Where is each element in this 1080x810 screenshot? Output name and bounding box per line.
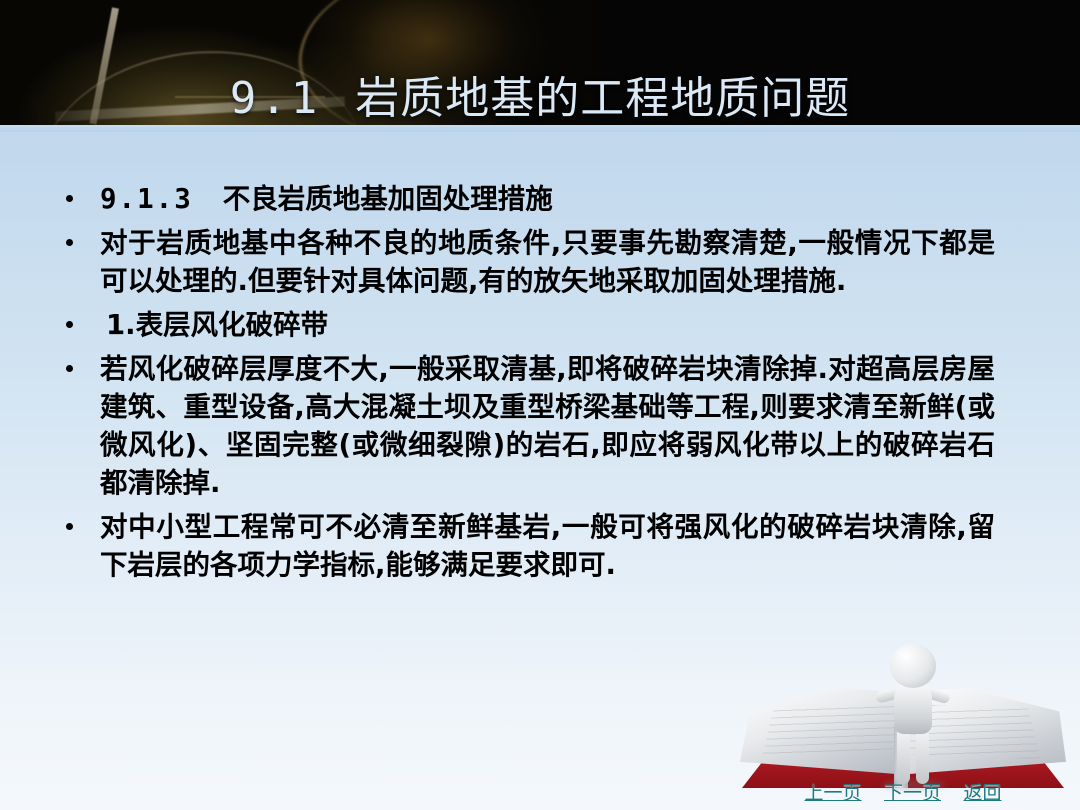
section-heading-number: 9.1.3	[100, 183, 193, 215]
section-heading: 9.1.3不良岩质地基加固处理措施	[0, 180, 1080, 218]
list-item: 1.表层风化破碎带	[0, 306, 1080, 344]
page-title-text: 岩质地基的工程地质问题	[355, 73, 850, 124]
person-right-leg-icon	[916, 728, 929, 784]
back-link[interactable]: 返回	[963, 782, 1001, 804]
page-title: 9.1岩质地基的工程地质问题	[0, 62, 1080, 126]
slide-navigation: 上一页 下一页 返回	[726, 778, 1080, 806]
page-title-number: 9.1	[230, 73, 321, 124]
slide: 9.1岩质地基的工程地质问题 9.1.3不良岩质地基加固处理措施 对于岩质地基中…	[0, 0, 1080, 810]
list-item-label: 1.表层风化破碎带	[100, 309, 328, 341]
person-torso-icon	[894, 682, 932, 734]
section-heading-text: 不良岩质地基加固处理措施	[223, 183, 553, 215]
person-left-leg-icon	[897, 728, 910, 784]
next-page-link[interactable]: 下一页	[884, 782, 941, 804]
list-item: 若风化破碎层厚度不大,一般采取清基,即将破碎岩块清除掉.对超高层房屋建筑、重型设…	[0, 350, 1080, 502]
list-item: 对中小型工程常可不必清至新鲜基岩,一般可将强风化的破碎岩块清除,留下岩层的各项力…	[0, 508, 1080, 584]
list-item: 对于岩质地基中各种不良的地质条件,只要事先勘察清楚,一般情况下都是可以处理的.但…	[0, 224, 1080, 300]
header-underline-band	[0, 125, 1080, 132]
prev-page-link[interactable]: 上一页	[805, 782, 862, 804]
person-figure-icon	[872, 642, 952, 792]
person-head-icon	[890, 644, 936, 688]
bullet-list: 9.1.3不良岩质地基加固处理措施 对于岩质地基中各种不良的地质条件,只要事先勘…	[0, 180, 1080, 584]
slide-body: 9.1.3不良岩质地基加固处理措施 对于岩质地基中各种不良的地质条件,只要事先勘…	[0, 180, 1080, 590]
